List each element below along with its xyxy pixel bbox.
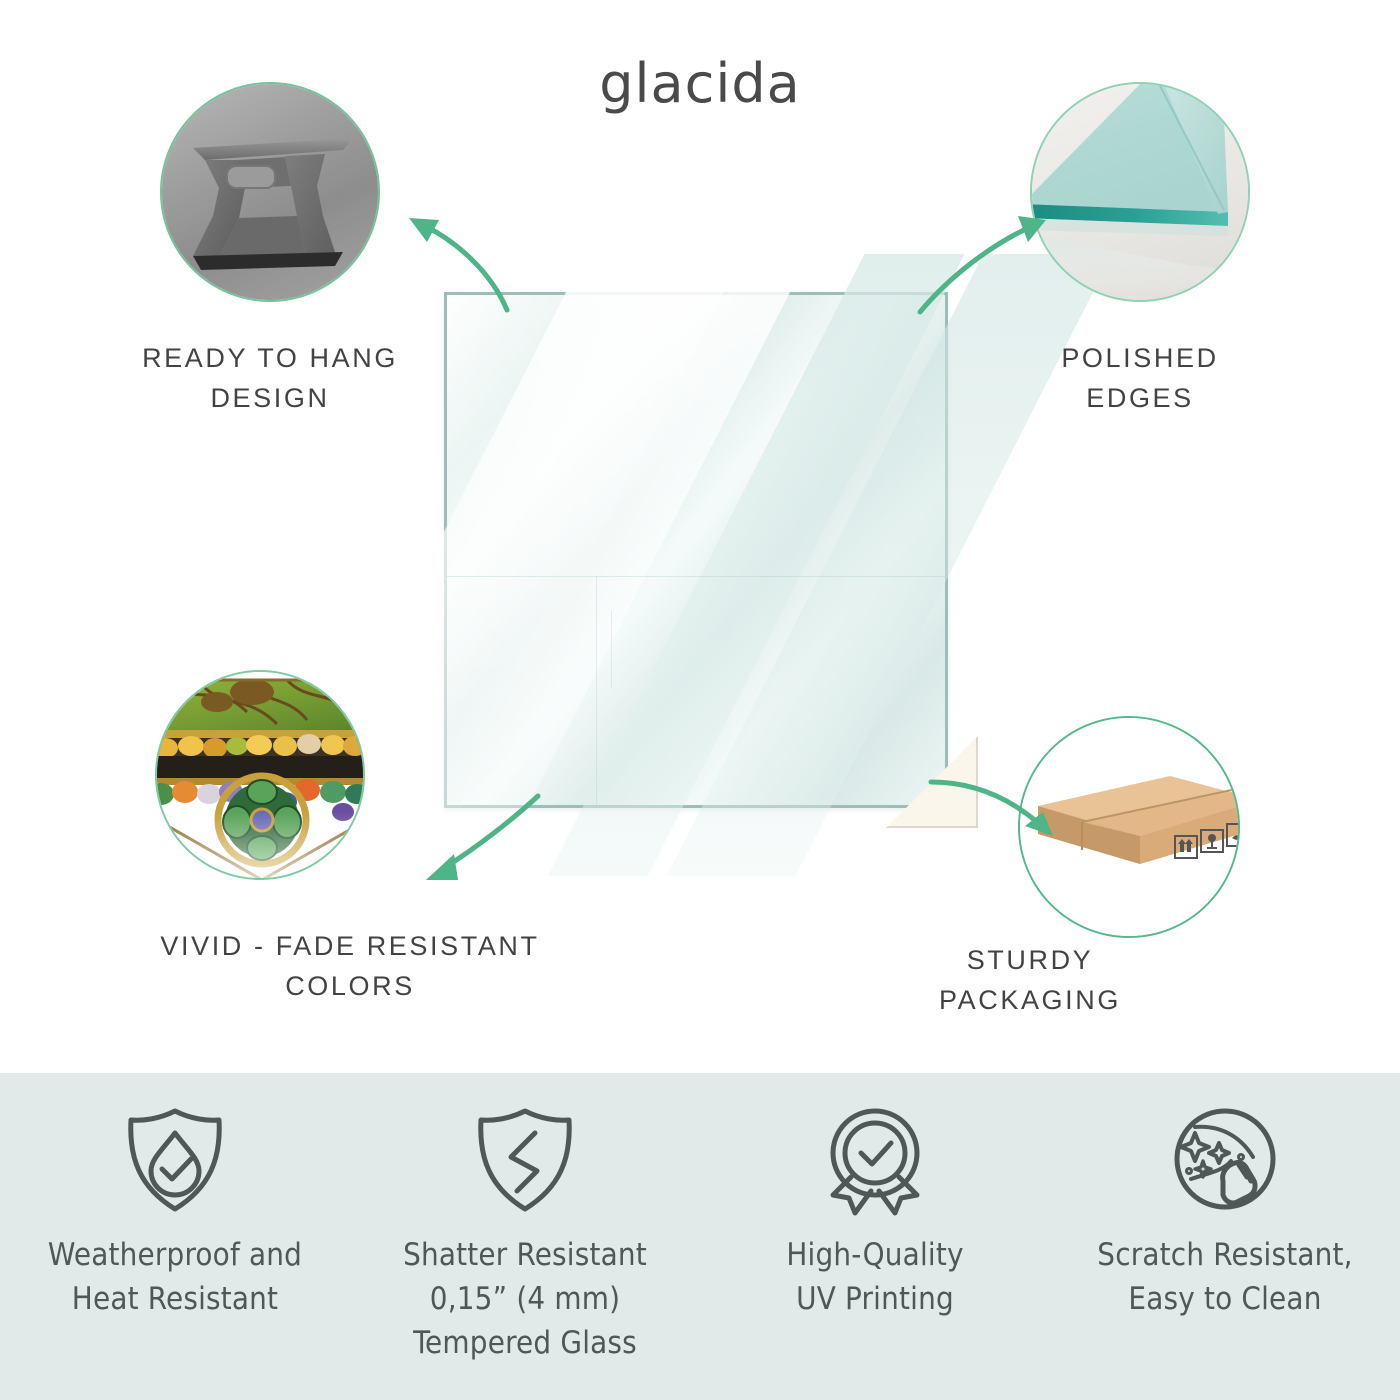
glass-highlight-streak [428,254,810,876]
arrow-to-sturdy-packaging [925,760,1105,880]
bottom-feature-shatter-resistant: Shatter Resistant 0,15” (4 mm) Tempered … [350,1073,700,1400]
feature-label-ready-to-hang: READY TO HANG DESIGN [60,338,480,418]
bottom-feature-label: Shatter Resistant 0,15” (4 mm) Tempered … [403,1233,647,1365]
bottom-feature-label: High-Quality UV Printing [786,1233,963,1321]
feature-label-vivid-colors: VIVID - FADE RESISTANT COLORS [75,926,625,1006]
hanging-bracket-icon [175,116,365,276]
glass-reflection-line [611,611,612,688]
sparkle-wiping-hand-icon [1165,1099,1285,1219]
infographic-stage: glacida [0,0,1400,1400]
feature-image-ready-to-hang [160,82,380,302]
bottom-feature-scratch-resistant: Scratch Resistant, Easy to Clean [1050,1073,1400,1400]
feature-label-sturdy-packaging: STURDY PACKAGING [850,940,1210,1020]
bottom-feature-bar: Weatherproof and Heat Resistant Shatter … [0,1073,1400,1400]
bottom-feature-label: Scratch Resistant, Easy to Clean [1097,1233,1352,1321]
glass-surface [444,292,948,808]
bottom-feature-row: Weatherproof and Heat Resistant Shatter … [0,1073,1400,1400]
product-glass-panel [444,292,948,808]
feature-label-polished-edges: POLISHED EDGES [955,338,1325,418]
bottom-feature-weatherproof: Weatherproof and Heat Resistant [0,1073,350,1400]
stained-glass-artwork-icon [157,672,365,880]
glass-reflection-line [596,576,597,806]
arrow-to-ready-to-hang [395,180,615,320]
bottom-feature-uv-printing: High-Quality UV Printing [700,1073,1050,1400]
shield-lightning-icon [465,1099,585,1219]
shield-water-drop-check-icon [115,1099,235,1219]
glass-reflection-line [447,576,945,577]
arrow-to-vivid-colors [400,790,590,920]
feature-image-vivid-colors [155,670,365,880]
award-badge-check-icon [815,1099,935,1219]
bottom-feature-label: Weatherproof and Heat Resistant [48,1233,302,1321]
arrow-to-polished-edges [900,180,1100,320]
